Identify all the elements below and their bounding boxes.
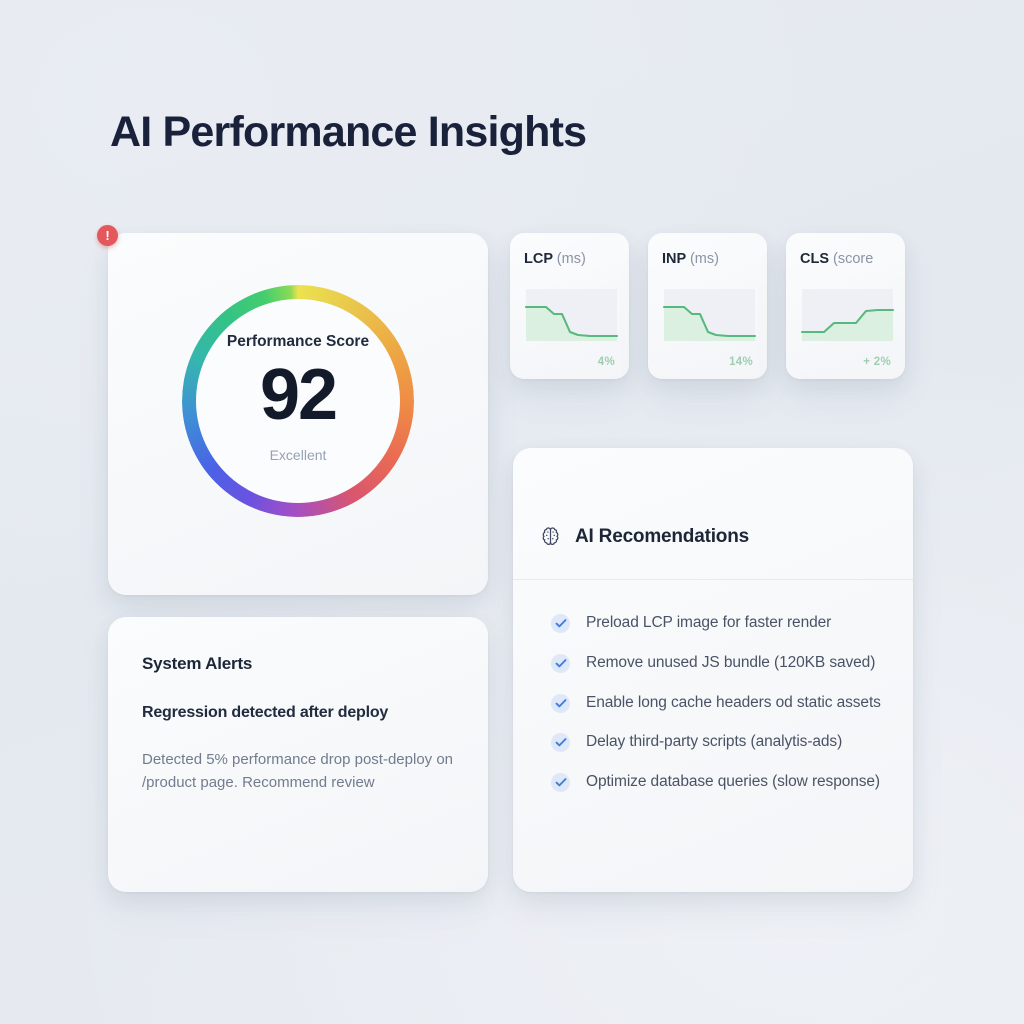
list-item[interactable]: Optimize database queries (slow response… <box>551 771 893 794</box>
check-icon <box>551 654 570 673</box>
sparkline-lcp <box>524 287 619 349</box>
metric-title-inp: INP (ms) <box>662 251 753 267</box>
list-item-label: Enable long cache headers od static asse… <box>586 692 881 715</box>
gauge-center: Performance Score 92 Excellent <box>196 299 400 503</box>
list-item-label: Optimize database queries (slow response… <box>586 771 880 794</box>
dashboard-root: AI Performance Insights ! Performance Sc… <box>0 0 1024 1024</box>
page-title: AI Performance Insights <box>110 108 586 157</box>
recommendations-title: AI Recomendations <box>575 526 749 548</box>
check-icon <box>551 694 570 713</box>
gauge-rating: Excellent <box>270 447 327 463</box>
gauge-label: Performance Score <box>227 333 369 351</box>
metric-delta-inp: 14% <box>729 356 753 368</box>
brain-icon <box>539 525 562 548</box>
metric-unit-lcp: (ms) <box>557 251 586 267</box>
alert-headline: Regression detected after deploy <box>142 704 458 722</box>
performance-score-card: ! Performance Score 92 Excellent <box>108 233 488 595</box>
metric-name-inp: INP <box>662 251 686 267</box>
system-alerts-card: System Alerts Regression detected after … <box>108 617 488 892</box>
metric-card-inp[interactable]: INP (ms) 14% <box>648 233 767 379</box>
list-item[interactable]: Delay third-party scripts (analytis-ads) <box>551 731 893 754</box>
performance-gauge: Performance Score 92 Excellent <box>182 285 414 517</box>
metric-title-cls: CLS (score <box>800 251 891 267</box>
recommendations-header: AI Recomendations <box>513 448 913 579</box>
metric-card-lcp[interactable]: LCP (ms) 4% <box>510 233 629 379</box>
metric-name-lcp: LCP <box>524 251 553 267</box>
alert-exclamation-icon[interactable]: ! <box>97 225 118 246</box>
check-icon <box>551 773 570 792</box>
sparkline-inp <box>662 287 757 349</box>
alert-body: Detected 5% performance drop post-deploy… <box>142 749 458 795</box>
list-item-label: Remove unused JS bundle (120KB saved) <box>586 652 875 675</box>
check-icon <box>551 614 570 633</box>
alerts-title: System Alerts <box>142 654 458 674</box>
metric-title-lcp: LCP (ms) <box>524 251 615 267</box>
gauge-value: 92 <box>260 359 336 432</box>
list-item[interactable]: Enable long cache headers od static asse… <box>551 692 893 715</box>
metric-card-cls[interactable]: CLS (score + 2% <box>786 233 905 379</box>
list-item[interactable]: Remove unused JS bundle (120KB saved) <box>551 652 893 675</box>
metric-unit-inp: (ms) <box>690 251 719 267</box>
list-item[interactable]: Preload LCP image for faster render <box>551 612 893 635</box>
metric-name-cls: CLS <box>800 251 829 267</box>
list-item-label: Delay third-party scripts (analytis-ads) <box>586 731 842 754</box>
sparkline-cls <box>800 287 895 349</box>
ai-recommendations-card: AI Recomendations Preload LCP image for … <box>513 448 913 892</box>
check-icon <box>551 733 570 752</box>
metric-delta-lcp: 4% <box>598 356 615 368</box>
metric-unit-cls: (score <box>833 251 873 267</box>
recommendations-list: Preload LCP image for faster render Remo… <box>513 580 913 794</box>
metric-delta-cls: + 2% <box>863 356 891 368</box>
list-item-label: Preload LCP image for faster render <box>586 612 831 635</box>
